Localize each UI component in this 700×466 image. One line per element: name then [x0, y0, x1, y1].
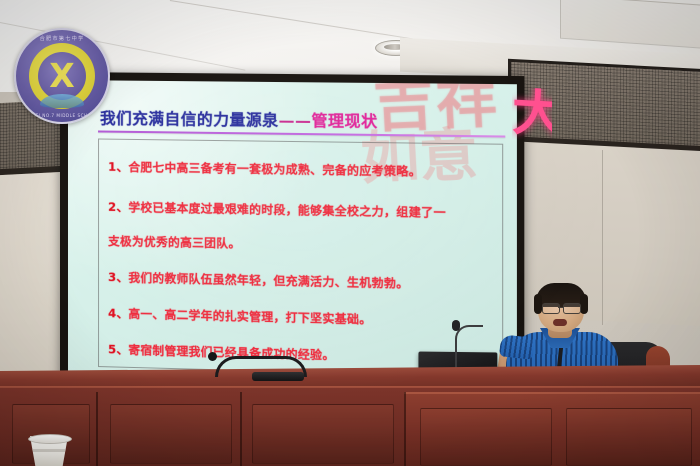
bullet-number: 1、	[108, 160, 128, 174]
podium-panel-seam	[404, 392, 406, 466]
podium-recessed-panel	[566, 408, 692, 466]
slide-title: 我们充满自信的力量源泉——管理现状	[100, 106, 378, 131]
eyeglasses-bridge	[558, 307, 563, 308]
bullet-text: 支极为优秀的高三团队。	[108, 234, 240, 251]
presentation-photo: 吉祥 如意 我们充满自信的力量源泉——管理现状 1、合肥七中高三备考有一套极为成…	[0, 0, 700, 466]
bullet-number: 4、	[108, 306, 128, 321]
bullet-number: 5、	[108, 342, 128, 357]
speaker-sleeve	[499, 334, 535, 359]
school-logo-wave	[40, 94, 84, 108]
slide-title-sub: 管理现状	[311, 112, 377, 131]
school-logo-top-text: 合肥市第七中学	[16, 35, 108, 42]
eyeglasses-icon	[542, 303, 560, 314]
school-logo: 合肥市第七中学 X HEFEI NO.7 MIDDLE SCHOOL	[14, 28, 110, 124]
school-logo-bottom-text: HEFEI NO.7 MIDDLE SCHOOL	[16, 113, 108, 118]
projector-overspill-glyph: 大	[512, 87, 552, 141]
bullet-number: 3、	[108, 270, 128, 284]
speaker-microphone-head	[452, 320, 460, 331]
podium-microphone-head	[208, 352, 217, 361]
podium-recessed-panel	[420, 408, 552, 466]
podium-microphone-base	[252, 372, 304, 381]
bullet-number: 2、	[108, 200, 128, 214]
bullet-text: 合肥七中高三备考有一套极为成熟、完备的应考策略。	[128, 160, 421, 178]
paper-cup-rim	[28, 434, 72, 444]
podium-recessed-panel	[252, 404, 394, 464]
slide-bullet-2-cont: 支极为优秀的高三团队。	[108, 233, 240, 252]
speaker-microphone-arm	[455, 325, 483, 373]
paper-cup-band	[33, 449, 65, 452]
speaker-mouth	[553, 319, 567, 326]
projection-screen: 吉祥 如意 我们充满自信的力量源泉——管理现状 1、合肥七中高三备考有一套极为成…	[68, 80, 517, 384]
slide-title-dash: ——	[279, 111, 312, 130]
speaker-hair-side	[580, 294, 588, 314]
podium-recessed-panel	[110, 404, 232, 464]
eyeglasses-icon	[563, 303, 581, 314]
school-logo-monogram-icon: X	[42, 56, 82, 96]
podium-panel-seam	[240, 392, 242, 466]
speaker-hair-side	[534, 294, 542, 314]
podium-panel-seam	[96, 392, 98, 466]
slide-title-main: 我们充满自信的力量源泉	[100, 109, 279, 129]
